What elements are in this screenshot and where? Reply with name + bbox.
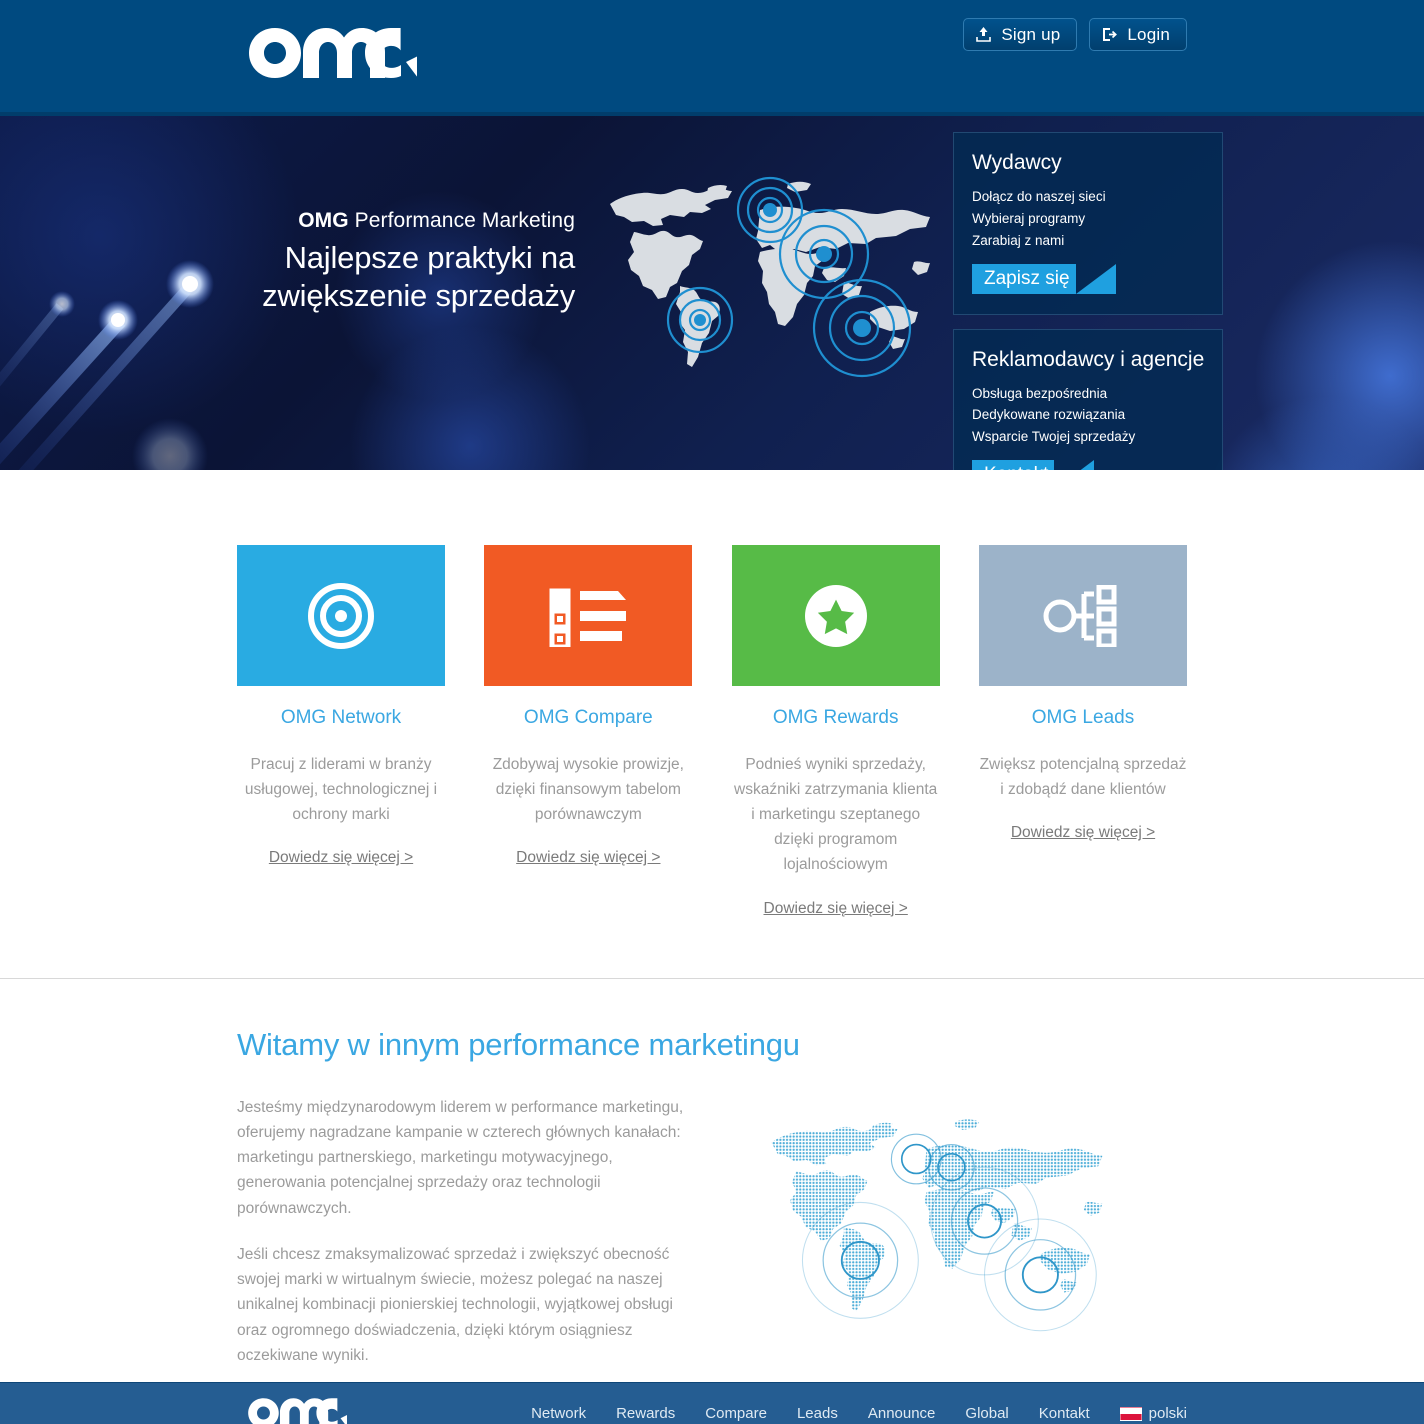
about-paragraph-2: Jeśli chcesz zmaksymalizować sprzedaż i … <box>237 1242 689 1368</box>
about-heading: Witamy w innym performance marketingu <box>237 1027 1187 1063</box>
card-omg-compare: OMG Compare Zdobywaj wysokie prowizje, d… <box>484 545 692 918</box>
hero-banner: OMG Performance Marketing Najlepsze prak… <box>0 116 1424 470</box>
footer-link-leads[interactable]: Leads <box>797 1405 838 1422</box>
about-map-wrap <box>729 1095 1187 1390</box>
panel-advertisers: Reklamodawcy i agencje Obsługa bezpośred… <box>953 329 1223 470</box>
list-icon <box>484 545 692 686</box>
omg-logo[interactable] <box>247 22 417 84</box>
language-label[interactable]: polski <box>1149 1405 1187 1422</box>
card-title[interactable]: OMG Rewards <box>732 707 940 729</box>
footer-nav: Network Rewards Compare Leads Announce G… <box>531 1405 1187 1422</box>
card-title[interactable]: OMG Network <box>237 707 445 729</box>
hero-kicker-bold: OMG <box>298 209 348 232</box>
hero-heading-block: OMG Performance Marketing Najlepsze prak… <box>245 209 575 315</box>
page-root: Sign up Login <box>0 0 1424 1424</box>
footer-omg-logo[interactable] <box>247 1394 347 1424</box>
footer-link-network[interactable]: Network <box>531 1405 586 1422</box>
list-item: Wsparcie Twojej sprzedaży <box>972 426 1202 448</box>
list-item: Zarabiaj z nami <box>972 230 1202 252</box>
footer-link-global[interactable]: Global <box>965 1405 1008 1422</box>
about-paragraph-1: Jesteśmy międzynarodowym liderem w perfo… <box>237 1095 689 1221</box>
card-omg-network: OMG Network Pracuj z liderami w branży u… <box>237 545 445 918</box>
list-item: Obsługa bezpośrednia <box>972 383 1202 405</box>
login-button[interactable]: Login <box>1089 18 1187 51</box>
about-body: Jesteśmy międzynarodowym liderem w perfo… <box>237 1095 1187 1390</box>
contact-cta-button[interactable]: Kontakt <box>972 460 1054 470</box>
hero-panels: Wydawcy Dołącz do naszej sieci Wybieraj … <box>953 132 1223 470</box>
target-icon <box>237 545 445 686</box>
hero-title: Najlepsze praktyki na zwiększenie sprzed… <box>245 239 575 315</box>
card-description: Zdobywaj wysokie prowizje, dzięki finans… <box>484 752 692 827</box>
site-header: Sign up Login <box>0 0 1424 116</box>
feature-cards: OMG Network Pracuj z liderami w branży u… <box>237 545 1187 918</box>
login-label: Login <box>1127 25 1170 45</box>
panel-publishers-title: Wydawcy <box>972 151 1202 175</box>
learn-more-link[interactable]: Dowiedz się więcej > <box>764 900 908 918</box>
upload-icon <box>975 26 992 43</box>
card-title[interactable]: OMG Leads <box>979 707 1187 729</box>
hero-title-line1: Najlepsze praktyki na <box>245 239 575 277</box>
learn-more-link[interactable]: Dowiedz się więcej > <box>1011 824 1155 842</box>
hero-kicker-rest: Performance Marketing <box>349 209 575 232</box>
hero-title-line2: zwiększenie sprzedaży <box>245 277 575 315</box>
world-map-dotted <box>729 1099 1149 1339</box>
hero-kicker: OMG Performance Marketing <box>245 209 575 233</box>
learn-more-link[interactable]: Dowiedz się więcej > <box>516 849 660 867</box>
hero-content: OMG Performance Marketing Najlepsze prak… <box>237 116 1187 470</box>
panel-advertisers-title: Reklamodawcy i agencje <box>972 348 1202 372</box>
language-selector[interactable]: polski <box>1120 1405 1187 1422</box>
footer-inner: Network Rewards Compare Leads Announce G… <box>237 1383 1187 1424</box>
panel-publishers: Wydawcy Dołącz do naszej sieci Wybieraj … <box>953 132 1223 315</box>
card-description: Zwiększ potencjalną sprzedaż i zdobądź d… <box>979 752 1187 802</box>
panel-publishers-list: Dołącz do naszej sieci Wybieraj programy… <box>972 186 1202 252</box>
learn-more-link[interactable]: Dowiedz się więcej > <box>269 849 413 867</box>
poland-flag-icon <box>1120 1407 1142 1421</box>
network-nodes-icon <box>979 545 1187 686</box>
footer-link-kontakt[interactable]: Kontakt <box>1039 1405 1090 1422</box>
header-inner: Sign up Login <box>237 0 1187 112</box>
about-section: Witamy w innym performance marketingu Je… <box>237 979 1187 1390</box>
card-title[interactable]: OMG Compare <box>484 707 692 729</box>
signup-button[interactable]: Sign up <box>963 18 1077 51</box>
card-omg-rewards: OMG Rewards Podnieś wyniki sprzedaży, ws… <box>732 545 940 918</box>
list-item: Wybieraj programy <box>972 208 1202 230</box>
footer-link-rewards[interactable]: Rewards <box>616 1405 675 1422</box>
site-footer: Network Rewards Compare Leads Announce G… <box>0 1382 1424 1424</box>
features-section: OMG Network Pracuj z liderami w branży u… <box>0 470 1424 979</box>
signup-cta-button[interactable]: Zapisz się <box>972 264 1076 294</box>
footer-link-announce[interactable]: Announce <box>868 1405 936 1422</box>
footer-link-compare[interactable]: Compare <box>705 1405 767 1422</box>
world-map-hero <box>592 162 952 394</box>
star-circle-icon <box>732 545 940 686</box>
header-actions: Sign up Login <box>963 18 1187 51</box>
login-icon <box>1101 26 1118 43</box>
card-omg-leads: OMG Leads Zwiększ potencjalną sprzedaż i… <box>979 545 1187 918</box>
about-text: Jesteśmy międzynarodowym liderem w perfo… <box>237 1095 689 1390</box>
panel-advertisers-list: Obsługa bezpośrednia Dedykowane rozwiąza… <box>972 383 1202 449</box>
signup-label: Sign up <box>1001 25 1060 45</box>
card-description: Pracuj z liderami w branży usługowej, te… <box>237 752 445 827</box>
card-description: Podnieś wyniki sprzedaży, wskaźniki zatr… <box>732 752 940 878</box>
list-item: Dołącz do naszej sieci <box>972 186 1202 208</box>
list-item: Dedykowane rozwiązania <box>972 404 1202 426</box>
